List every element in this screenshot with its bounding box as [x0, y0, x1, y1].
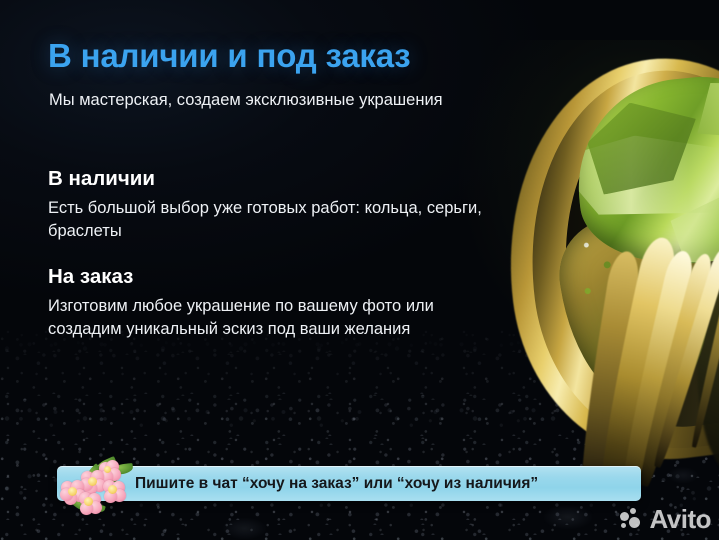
promo-banner-canvas: В наличии и под заказ Мы мастерская, соз…	[0, 0, 719, 540]
section-body: Есть большой выбор уже готовых работ: ко…	[48, 197, 488, 243]
avito-brand-label: Avito	[649, 506, 711, 532]
section-in-stock: В наличии Есть большой выбор уже готовых…	[48, 167, 488, 243]
section-heading: В наличии	[48, 167, 488, 191]
avito-watermark: Avito	[620, 506, 711, 532]
flower-decoration-icon	[55, 458, 155, 516]
page-title: В наличии и под заказ	[48, 37, 410, 75]
section-body: Изготовим любое украшение по вашему фото…	[48, 295, 488, 341]
flower-icon	[103, 480, 125, 502]
cta-label: Пишите в чат “хочу на заказ” или “хочу и…	[135, 475, 538, 493]
flower-icon	[79, 492, 101, 514]
page-subtitle: Мы мастерская, создаем эксклюзивные укра…	[49, 91, 443, 110]
gem-facet-right	[692, 74, 719, 158]
jewelry-photo	[469, 0, 719, 500]
section-made-to-order: На заказ Изготовим любое украшение по ва…	[48, 265, 488, 341]
avito-dots-icon	[620, 508, 644, 530]
section-heading: На заказ	[48, 265, 488, 289]
